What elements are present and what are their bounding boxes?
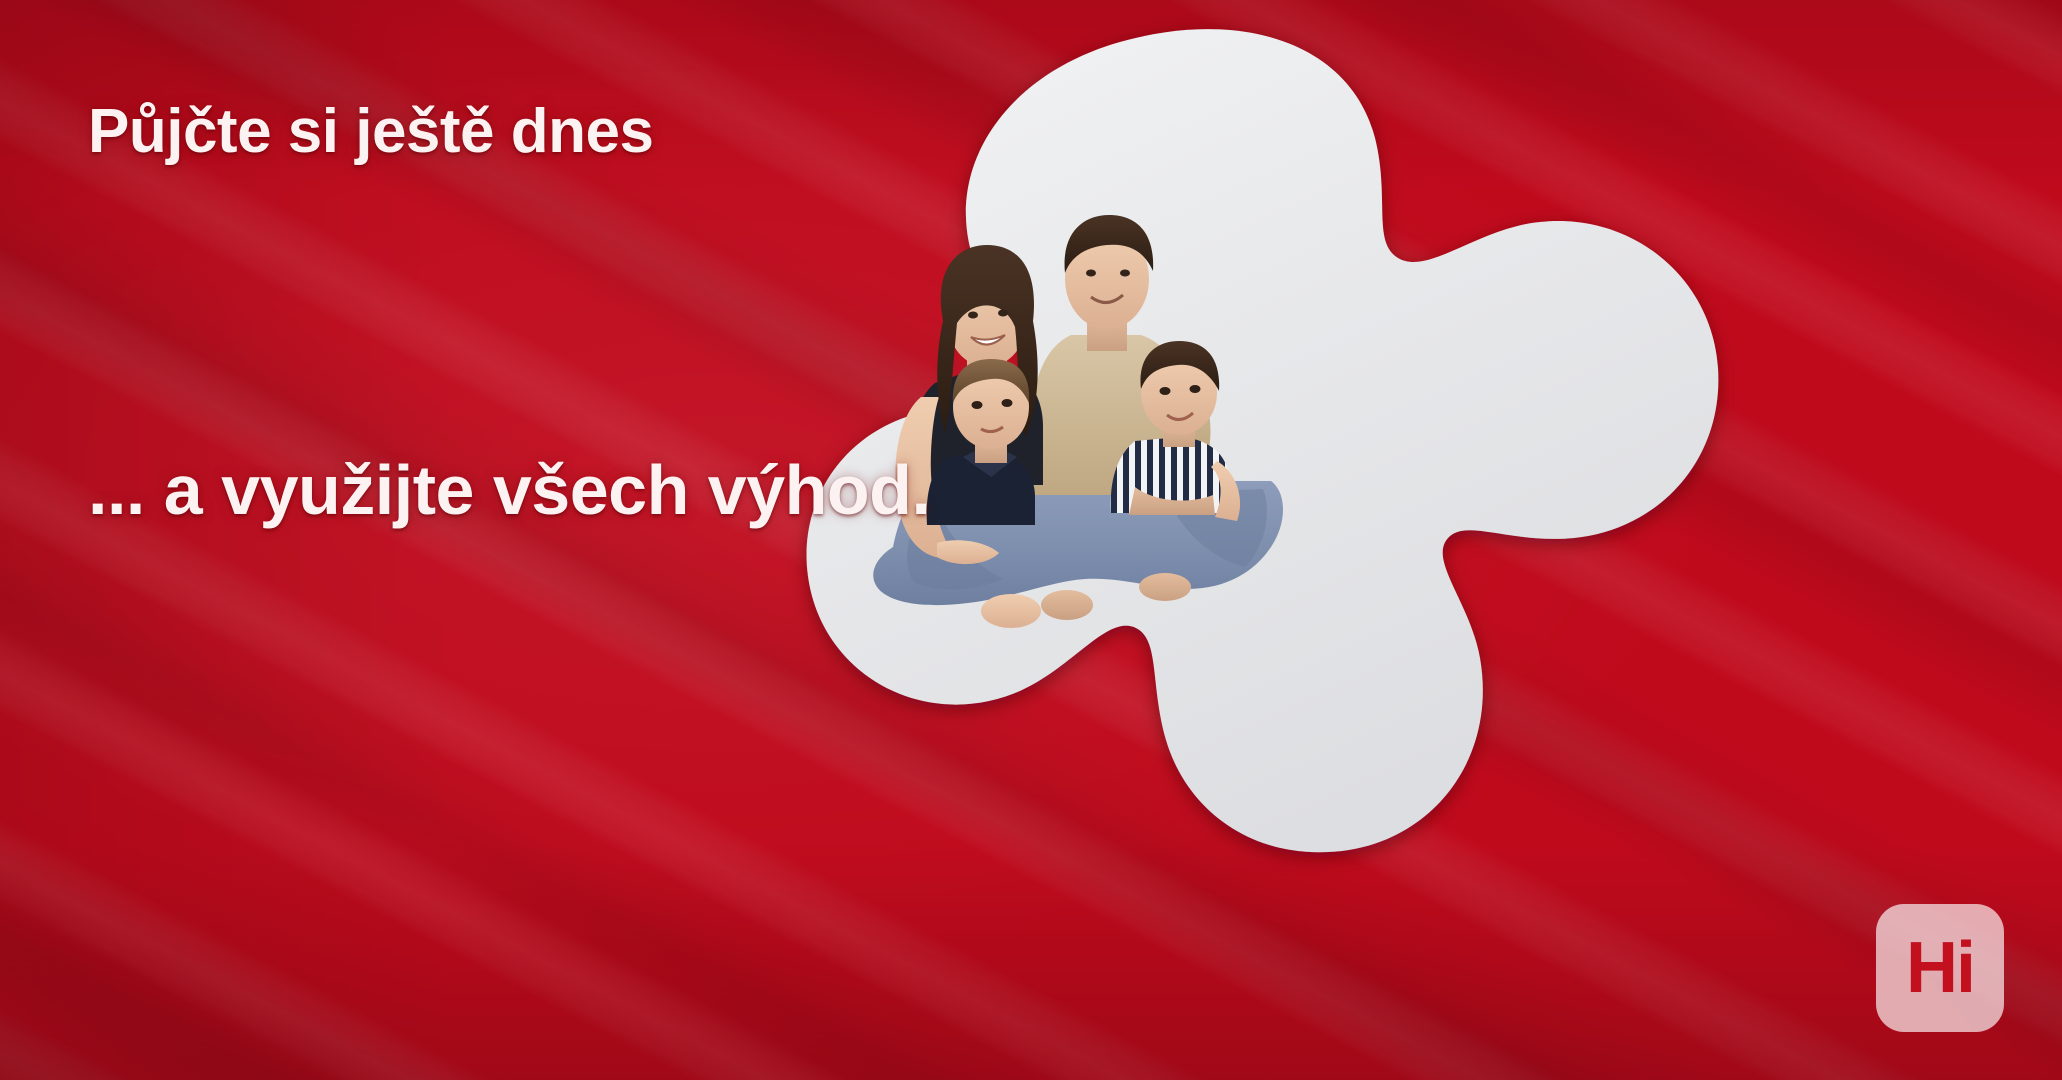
younger-boy-eye-left bbox=[972, 401, 983, 409]
hi-watermark-label: Hi bbox=[1906, 932, 1974, 1004]
foot-far-right bbox=[1139, 573, 1191, 601]
mother-eye-left bbox=[968, 312, 978, 319]
foot-left bbox=[981, 594, 1041, 628]
mother-eye-right bbox=[998, 310, 1008, 317]
hi-watermark-logo: Hi bbox=[1876, 904, 2004, 1032]
younger-boy-eye-right bbox=[1002, 399, 1013, 407]
advertisement-banner: Půjčte si ještě dnes ... a využijte všec… bbox=[0, 0, 2062, 1080]
family-photo bbox=[835, 175, 1315, 675]
father-eye-right bbox=[1120, 270, 1130, 277]
foot-right bbox=[1041, 590, 1093, 620]
family-photo-svg bbox=[835, 175, 1315, 675]
father-eye-left bbox=[1086, 270, 1096, 277]
older-boy-eye-left bbox=[1160, 387, 1171, 395]
older-boy-eye-right bbox=[1190, 385, 1201, 393]
